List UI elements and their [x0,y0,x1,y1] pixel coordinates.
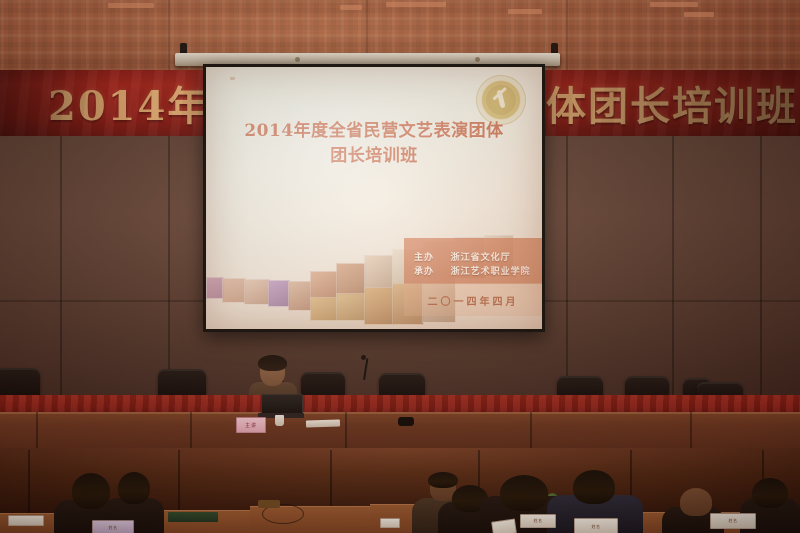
wall-panel-seam [60,136,62,396]
tape-strip [684,12,714,17]
wall-panel-seam [566,136,568,396]
nameplate-text: 主讲 [245,422,257,429]
slide-title-line2: 团长培训班 [206,144,542,169]
slide-title: 2014年度全省民营文艺表演团体 团长培训班 [206,119,542,168]
dancer-figure-icon [496,90,505,109]
audience-head-bald [680,488,712,516]
collage-tile [310,297,338,321]
cable-connector [258,500,280,508]
audience-head [72,473,110,509]
table-seam [190,412,192,452]
collage-tile [364,287,394,325]
audience-paper [8,515,44,526]
wall-panel-seam [760,136,762,396]
roller-dot [295,57,300,62]
co-organizer-label: 承办 [414,267,434,277]
microphone-head [361,355,366,360]
audience-head [573,470,615,504]
logo-disc [486,85,516,115]
collage-tile [336,263,366,295]
collage-tile [268,280,290,307]
collage-tile [310,271,338,299]
co-organizer-line: 承办 浙江艺术职业学院 [414,264,531,277]
screen-speck [230,77,235,80]
name-card-text: 姓名 [534,518,543,524]
table-seam [530,412,532,452]
audience-name-card: 姓名 [92,520,134,533]
audience-hair [428,472,458,488]
table-seam [345,412,347,452]
green-folder [168,512,218,522]
tape-strip [340,5,362,10]
audience-name-card: 姓名 [520,514,556,528]
stage-chair [0,368,40,398]
tape-strip [508,9,542,14]
slide-title-line1: 2014年度全省民营文艺表演团体 [206,119,542,144]
presenter-nameplate: 主讲 [236,417,266,433]
collage-tile [244,279,270,305]
conference-hall-photo: 2014年度 体团长培训班 2014年度全省民营文艺表演团体 团长培训班 [0,0,800,533]
audience-head [500,475,548,511]
wall-panel-seam [168,136,170,396]
projection-screen: 2014年度全省民营文艺表演团体 团长培训班 [203,64,545,332]
projected-slide: 2014年度全省民营文艺表演团体 团长培训班 [206,67,542,329]
organizer-line: 主办 浙江省文化厅 [414,250,511,263]
slide-info-box: 主办 浙江省文化厅 承办 浙江艺术职业学院 二〇一四年四月 [404,238,542,316]
collage-tile [222,278,246,303]
desk-device [398,417,414,426]
drinking-cup [275,415,284,426]
co-organizer-value: 浙江艺术职业学院 [451,267,531,277]
dancer-emblem-logo [476,75,526,125]
table-seam [36,412,38,452]
collage-tile [206,277,224,299]
collage-tile [336,293,366,321]
collage-tile [288,281,312,311]
wall-panel-seam [672,136,674,396]
banner-text-right: 体团长培训班 [546,74,798,132]
collage-tile [364,255,394,289]
audience-name-card: 姓名 [574,518,618,533]
table-seam [690,412,692,452]
audience-paper [491,518,517,533]
audience-paper [380,518,400,528]
name-card-text: 姓名 [729,518,738,524]
tape-strip [386,2,446,7]
tape-strip [108,3,154,8]
audience-head [118,472,150,504]
papers-stack [306,419,340,427]
name-card-text: 姓名 [109,525,118,531]
roller-dot [475,57,480,62]
tape-strip [650,2,698,7]
slide-date: 二〇一四年四月 [404,293,542,308]
organizer-value: 浙江省文化厅 [451,253,511,263]
organizer-label: 主办 [414,253,434,263]
audience-name-card: 姓名 [710,513,756,529]
name-card-text: 姓名 [592,524,601,530]
audience-head [752,478,788,508]
presenter-hair [258,355,287,371]
